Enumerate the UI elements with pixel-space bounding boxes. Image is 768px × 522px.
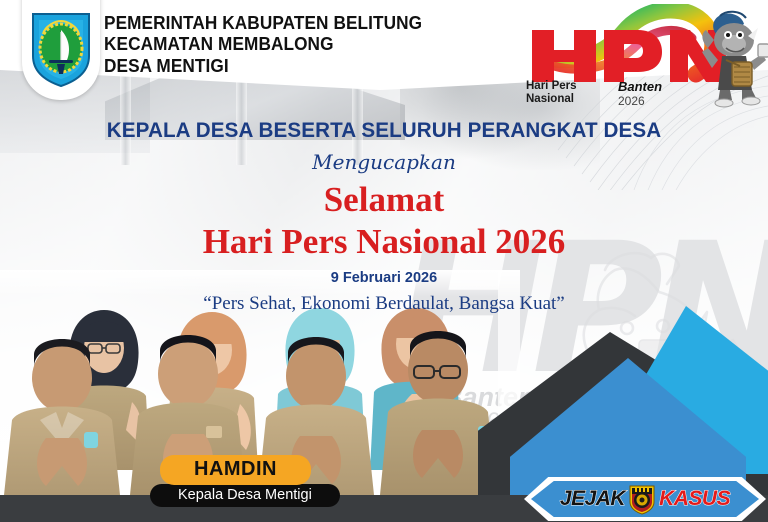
hpn-subtitle-right: Banten 2026 bbox=[618, 80, 662, 108]
message-date: 9 Februari 2026 bbox=[0, 270, 768, 286]
message-block: KEPALA DESA BESERTA SELURUH PERANGKAT DE… bbox=[0, 118, 768, 315]
message-headline: KEPALA DESA BESERTA SELURUH PERANGKAT DE… bbox=[15, 118, 752, 143]
hpn-subtitle-left: Hari Pers Nasional bbox=[526, 80, 577, 106]
nameplate-name: HAMDIN bbox=[160, 455, 311, 485]
message-connector: Mengucapkan bbox=[0, 150, 768, 174]
jejak-kasus-word-2: KASUS bbox=[659, 487, 730, 511]
hpn-sub-nasional: Nasional bbox=[526, 93, 577, 106]
header-line-2: KECAMATAN MEMBALONG bbox=[104, 33, 422, 54]
belitung-regency-crest-icon bbox=[29, 8, 93, 88]
header-title-block: PEMERINTAH KABUPATEN BELITUNG KECAMATAN … bbox=[104, 12, 446, 76]
hpn-sub-hari-pers: Hari Pers bbox=[526, 80, 577, 93]
hpn-sub-year: 2026 bbox=[618, 95, 662, 108]
header-line-3: DESA MENTIGI bbox=[104, 55, 422, 76]
message-occasion: Hari Pers Nasional 2026 bbox=[0, 222, 768, 262]
header-line-1: PEMERINTAH KABUPATEN BELITUNG bbox=[104, 12, 422, 33]
jejak-kasus-logo[interactable]: JEJAK KASUS bbox=[524, 477, 766, 521]
message-greeting: Selamat bbox=[0, 180, 768, 220]
hpn-sub-banten: Banten bbox=[618, 80, 662, 95]
nameplate-role: Kepala Desa Mentigi bbox=[150, 484, 340, 507]
police-shield-emblem-icon bbox=[628, 483, 656, 515]
greeting-poster: HPN Banten 2026 bbox=[0, 0, 768, 522]
message-slogan: “Pers Sehat, Ekonomi Berdaulat, Bangsa K… bbox=[0, 293, 768, 315]
jejak-kasus-word-1: JEJAK bbox=[560, 487, 625, 511]
